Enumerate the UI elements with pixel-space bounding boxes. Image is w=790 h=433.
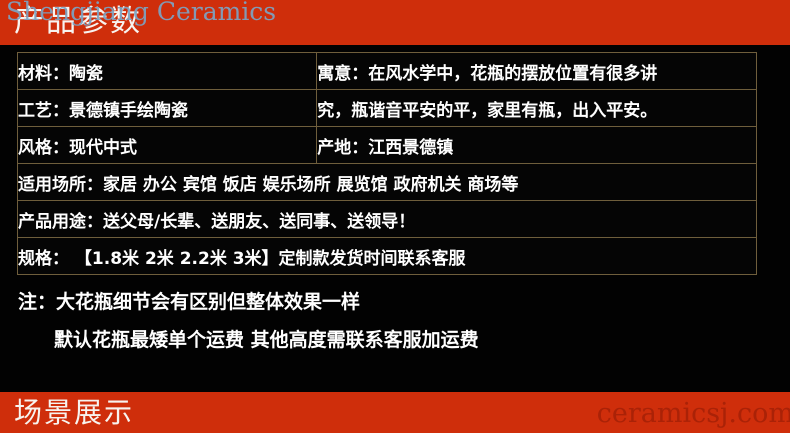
product-detail-page: 产品参数 Shengjiang Ceramics 材料：陶瓷 寓意：在风水学中，…	[0, 0, 790, 433]
footer-title: 场景展示	[14, 392, 134, 433]
spec-cell-style: 风格：现代中式	[18, 127, 317, 164]
brand-watermark-bottom: ceramicsj.com	[597, 398, 790, 430]
spec-cell-meaning-line1: 寓意：在风水学中，花瓶的摆放位置有很多讲	[317, 53, 757, 90]
spec-cell-occasions: 适用场所：家居 办公 宾馆 饭店 娱乐场所 展览馆 政府机关 商场等	[18, 164, 757, 201]
note-line-1: 注：大花瓶细节会有区别但整体效果一样	[18, 283, 758, 321]
table-row: 工艺：景德镇手绘陶瓷 究，瓶谐音平安的平，家里有瓶，出入平安。	[18, 90, 757, 127]
spec-cell-origin: 产地：江西景德镇	[317, 127, 757, 164]
table-row: 风格：现代中式 产地：江西景德镇	[18, 127, 757, 164]
product-spec-table: 材料：陶瓷 寓意：在风水学中，花瓶的摆放位置有很多讲 工艺：景德镇手绘陶瓷 究，…	[17, 52, 757, 275]
spec-cell-material: 材料：陶瓷	[18, 53, 317, 90]
spec-cell-meaning-line2: 究，瓶谐音平安的平，家里有瓶，出入平安。	[317, 90, 757, 127]
spec-cell-size: 规格： 【1.8米 2米 2.2米 3米】定制款发货时间联系客服	[18, 238, 757, 275]
page-title: 产品参数	[14, 1, 142, 43]
note-line-2: 默认花瓶最矮单个运费 其他高度需联系客服加运费	[18, 321, 758, 359]
product-note: 注：大花瓶细节会有区别但整体效果一样 默认花瓶最矮单个运费 其他高度需联系客服加…	[18, 283, 758, 359]
table-row: 规格： 【1.8米 2米 2.2米 3米】定制款发货时间联系客服	[18, 238, 757, 275]
section-header-scene-display: 场景展示 ceramicsj.com	[0, 392, 790, 433]
spec-cell-craft: 工艺：景德镇手绘陶瓷	[18, 90, 317, 127]
table-row: 产品用途：送父母/长辈、送朋友、送同事、送领导！	[18, 201, 757, 238]
table-row: 适用场所：家居 办公 宾馆 饭店 娱乐场所 展览馆 政府机关 商场等	[18, 164, 757, 201]
table-row: 材料：陶瓷 寓意：在风水学中，花瓶的摆放位置有很多讲	[18, 53, 757, 90]
section-header-product-params: 产品参数 Shengjiang Ceramics	[0, 0, 790, 45]
spec-cell-usage: 产品用途：送父母/长辈、送朋友、送同事、送领导！	[18, 201, 757, 238]
